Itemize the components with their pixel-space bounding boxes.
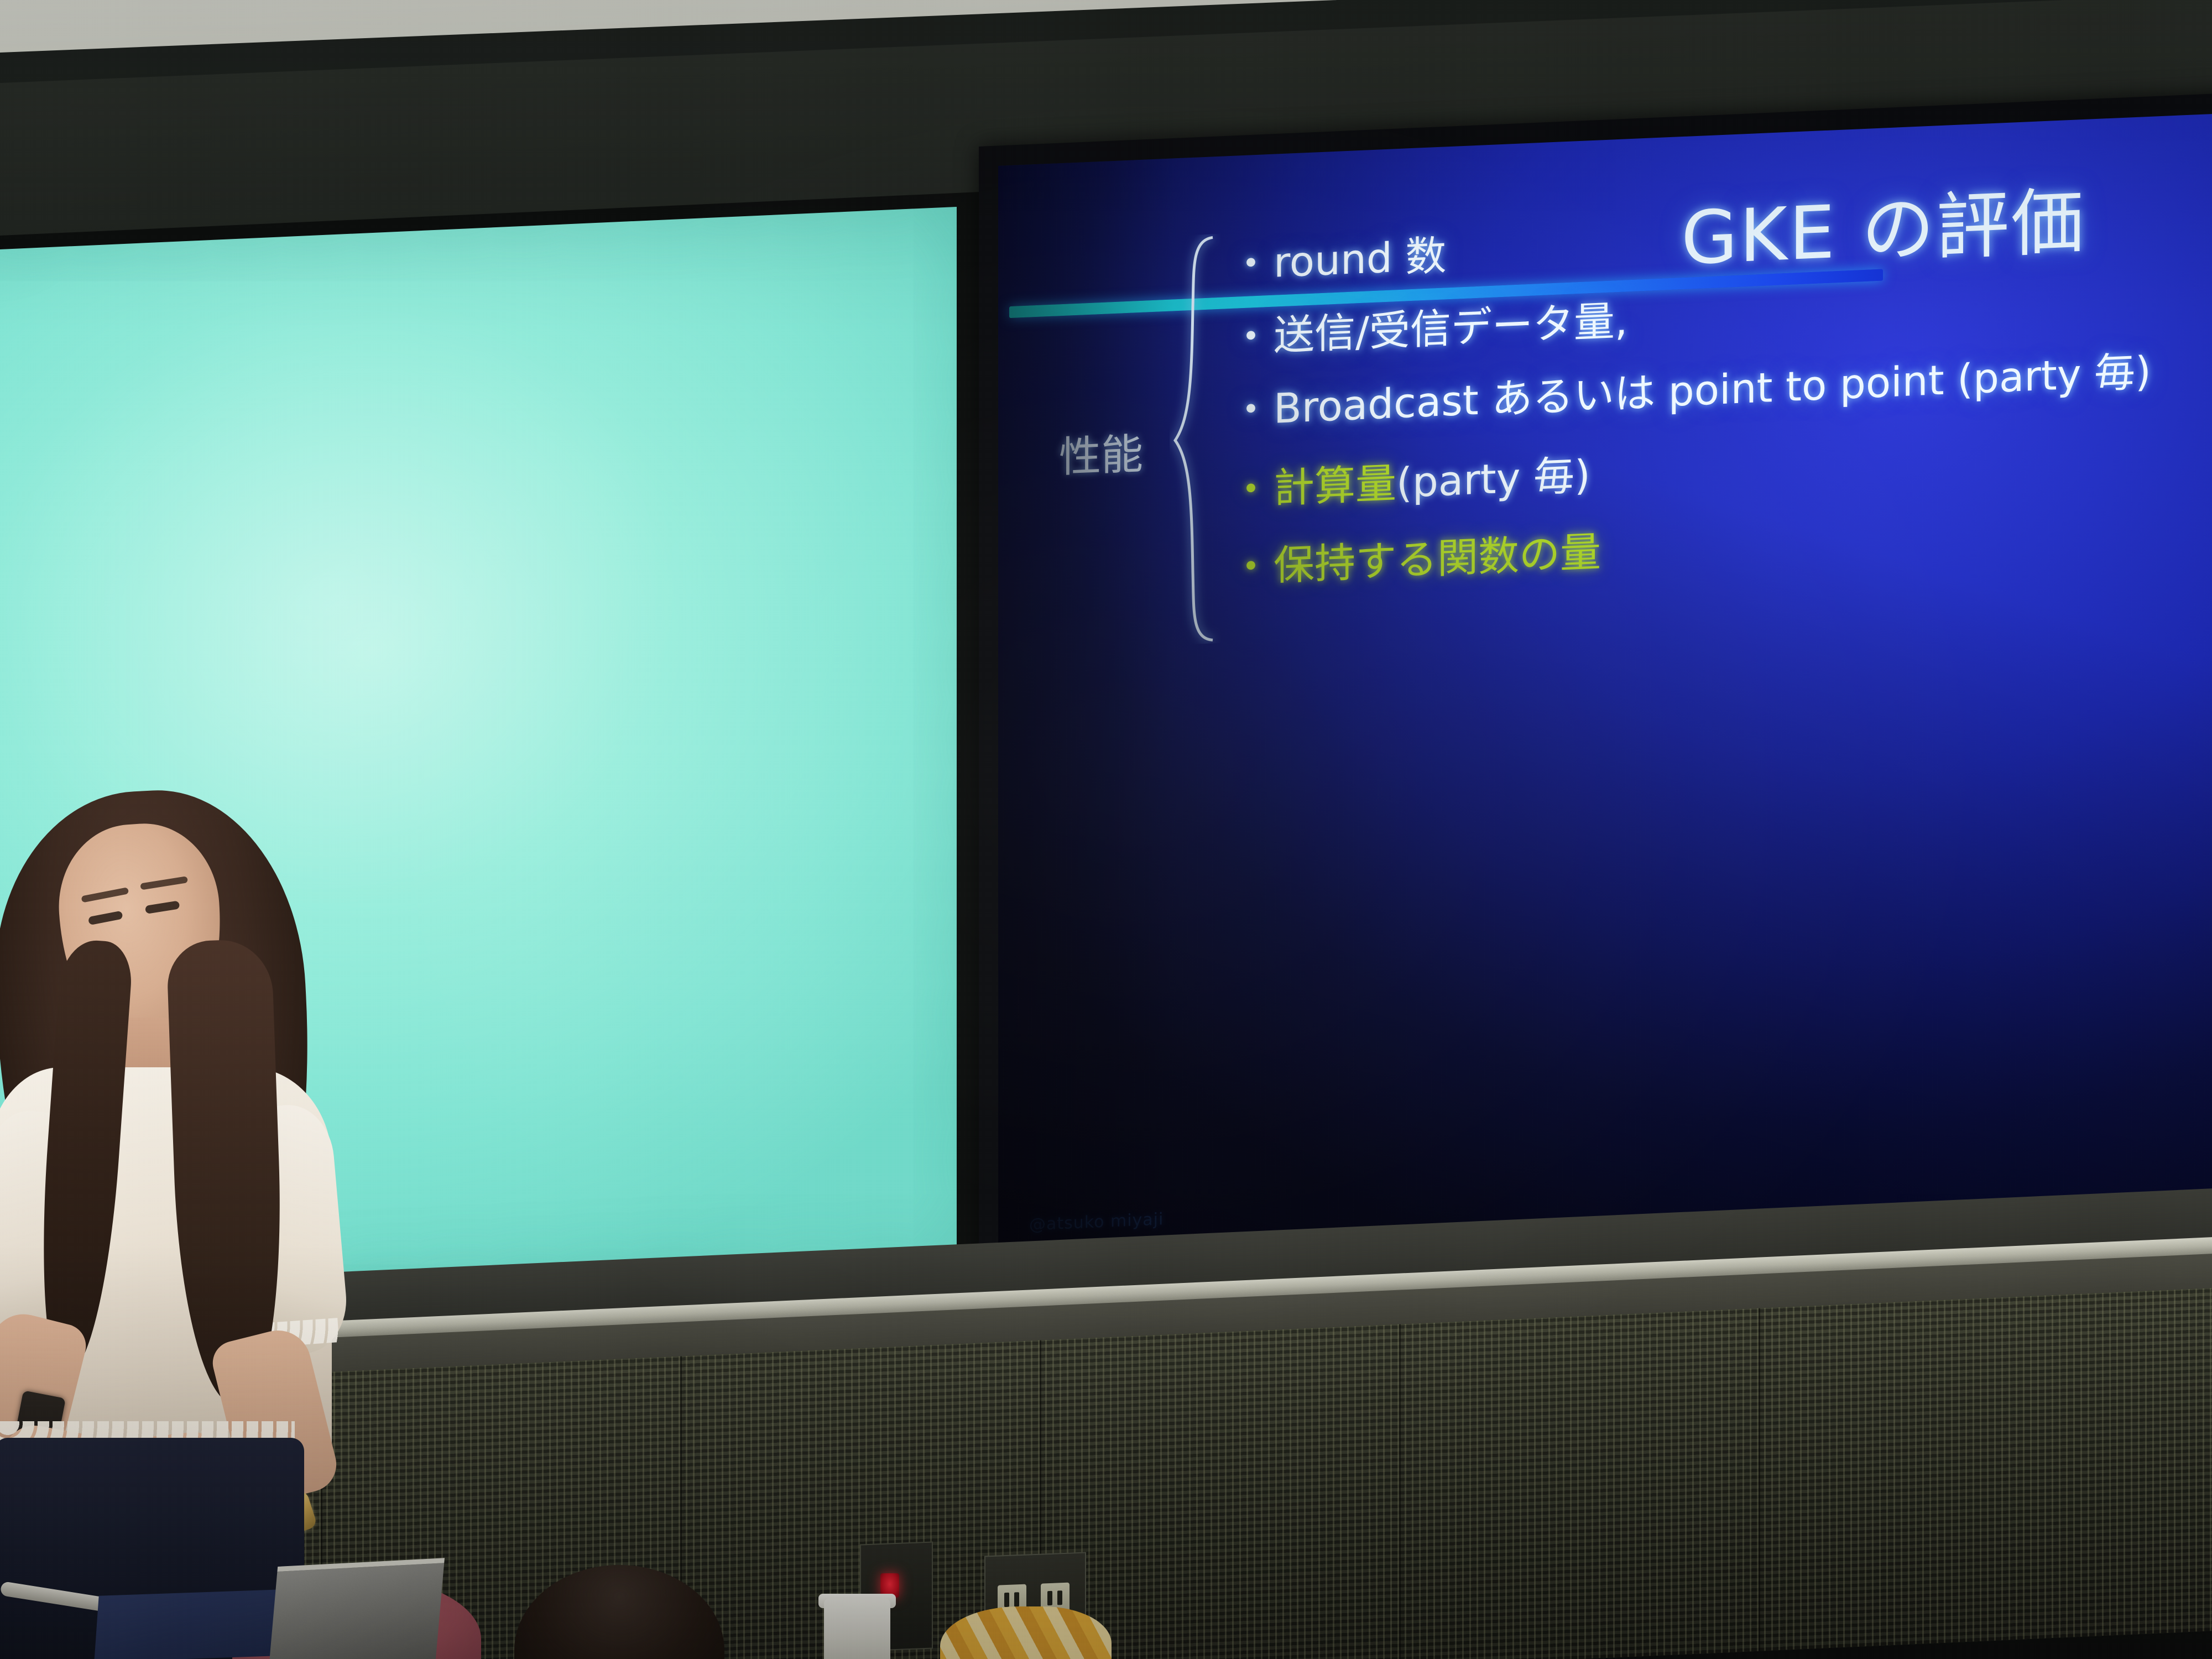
bullet-dot-icon: ・ (1230, 546, 1271, 588)
bullet-list: ・ round 数 ・ 送信/受信データ量, ・ Broadcast あるいは … (1230, 202, 2212, 588)
presenter-eye-left (88, 911, 123, 926)
bullet-dot-icon: ・ (1230, 389, 1271, 431)
list-item: ・ Broadcast あるいは point to point (party 毎… (1230, 348, 2212, 431)
bullet-dot-icon: ・ (1230, 316, 1271, 358)
bullet-text: Broadcast あるいは point to point (party 毎) (1274, 351, 2151, 430)
laptop-screen-front (269, 1558, 445, 1659)
list-item: ・ 送信/受信データ量, (1230, 275, 2212, 358)
list-item: ・ 保持する関数の量 (1230, 505, 2212, 588)
presenter-figure (0, 758, 376, 1659)
bullet-text: round 数 (1274, 235, 1446, 283)
laptop-screen-back (94, 1589, 281, 1659)
bullet-text: 計算量 (1274, 463, 1396, 509)
bullet-text: 送信/受信データ量, (1274, 300, 1627, 356)
curly-brace-icon (1170, 234, 1220, 645)
presenter-brow-left (81, 887, 129, 902)
bullet-dot-icon: ・ (1230, 468, 1271, 511)
presentation-slide: GKE の評価 性能 ・ round 数 ・ 送信/受信データ量, ・ Broa… (998, 112, 2212, 1305)
presenter-brow-right (140, 876, 188, 890)
bullet-text-suffix: (party 毎) (1396, 455, 1590, 504)
paper-cup (824, 1598, 890, 1659)
list-item: ・ 計算量 (party 毎) (1230, 427, 2212, 511)
bullet-text: 保持する関数の量 (1274, 531, 1601, 586)
performance-group-label: 性能 (1059, 420, 1143, 484)
slide-footer-author: @atsuko miyaji (1029, 1209, 1164, 1234)
bullet-dot-icon: ・ (1230, 243, 1271, 285)
photo-scene: GKE の評価 性能 ・ round 数 ・ 送信/受信データ量, ・ Broa… (0, 0, 2212, 1659)
presenter-eye-right (145, 900, 180, 914)
